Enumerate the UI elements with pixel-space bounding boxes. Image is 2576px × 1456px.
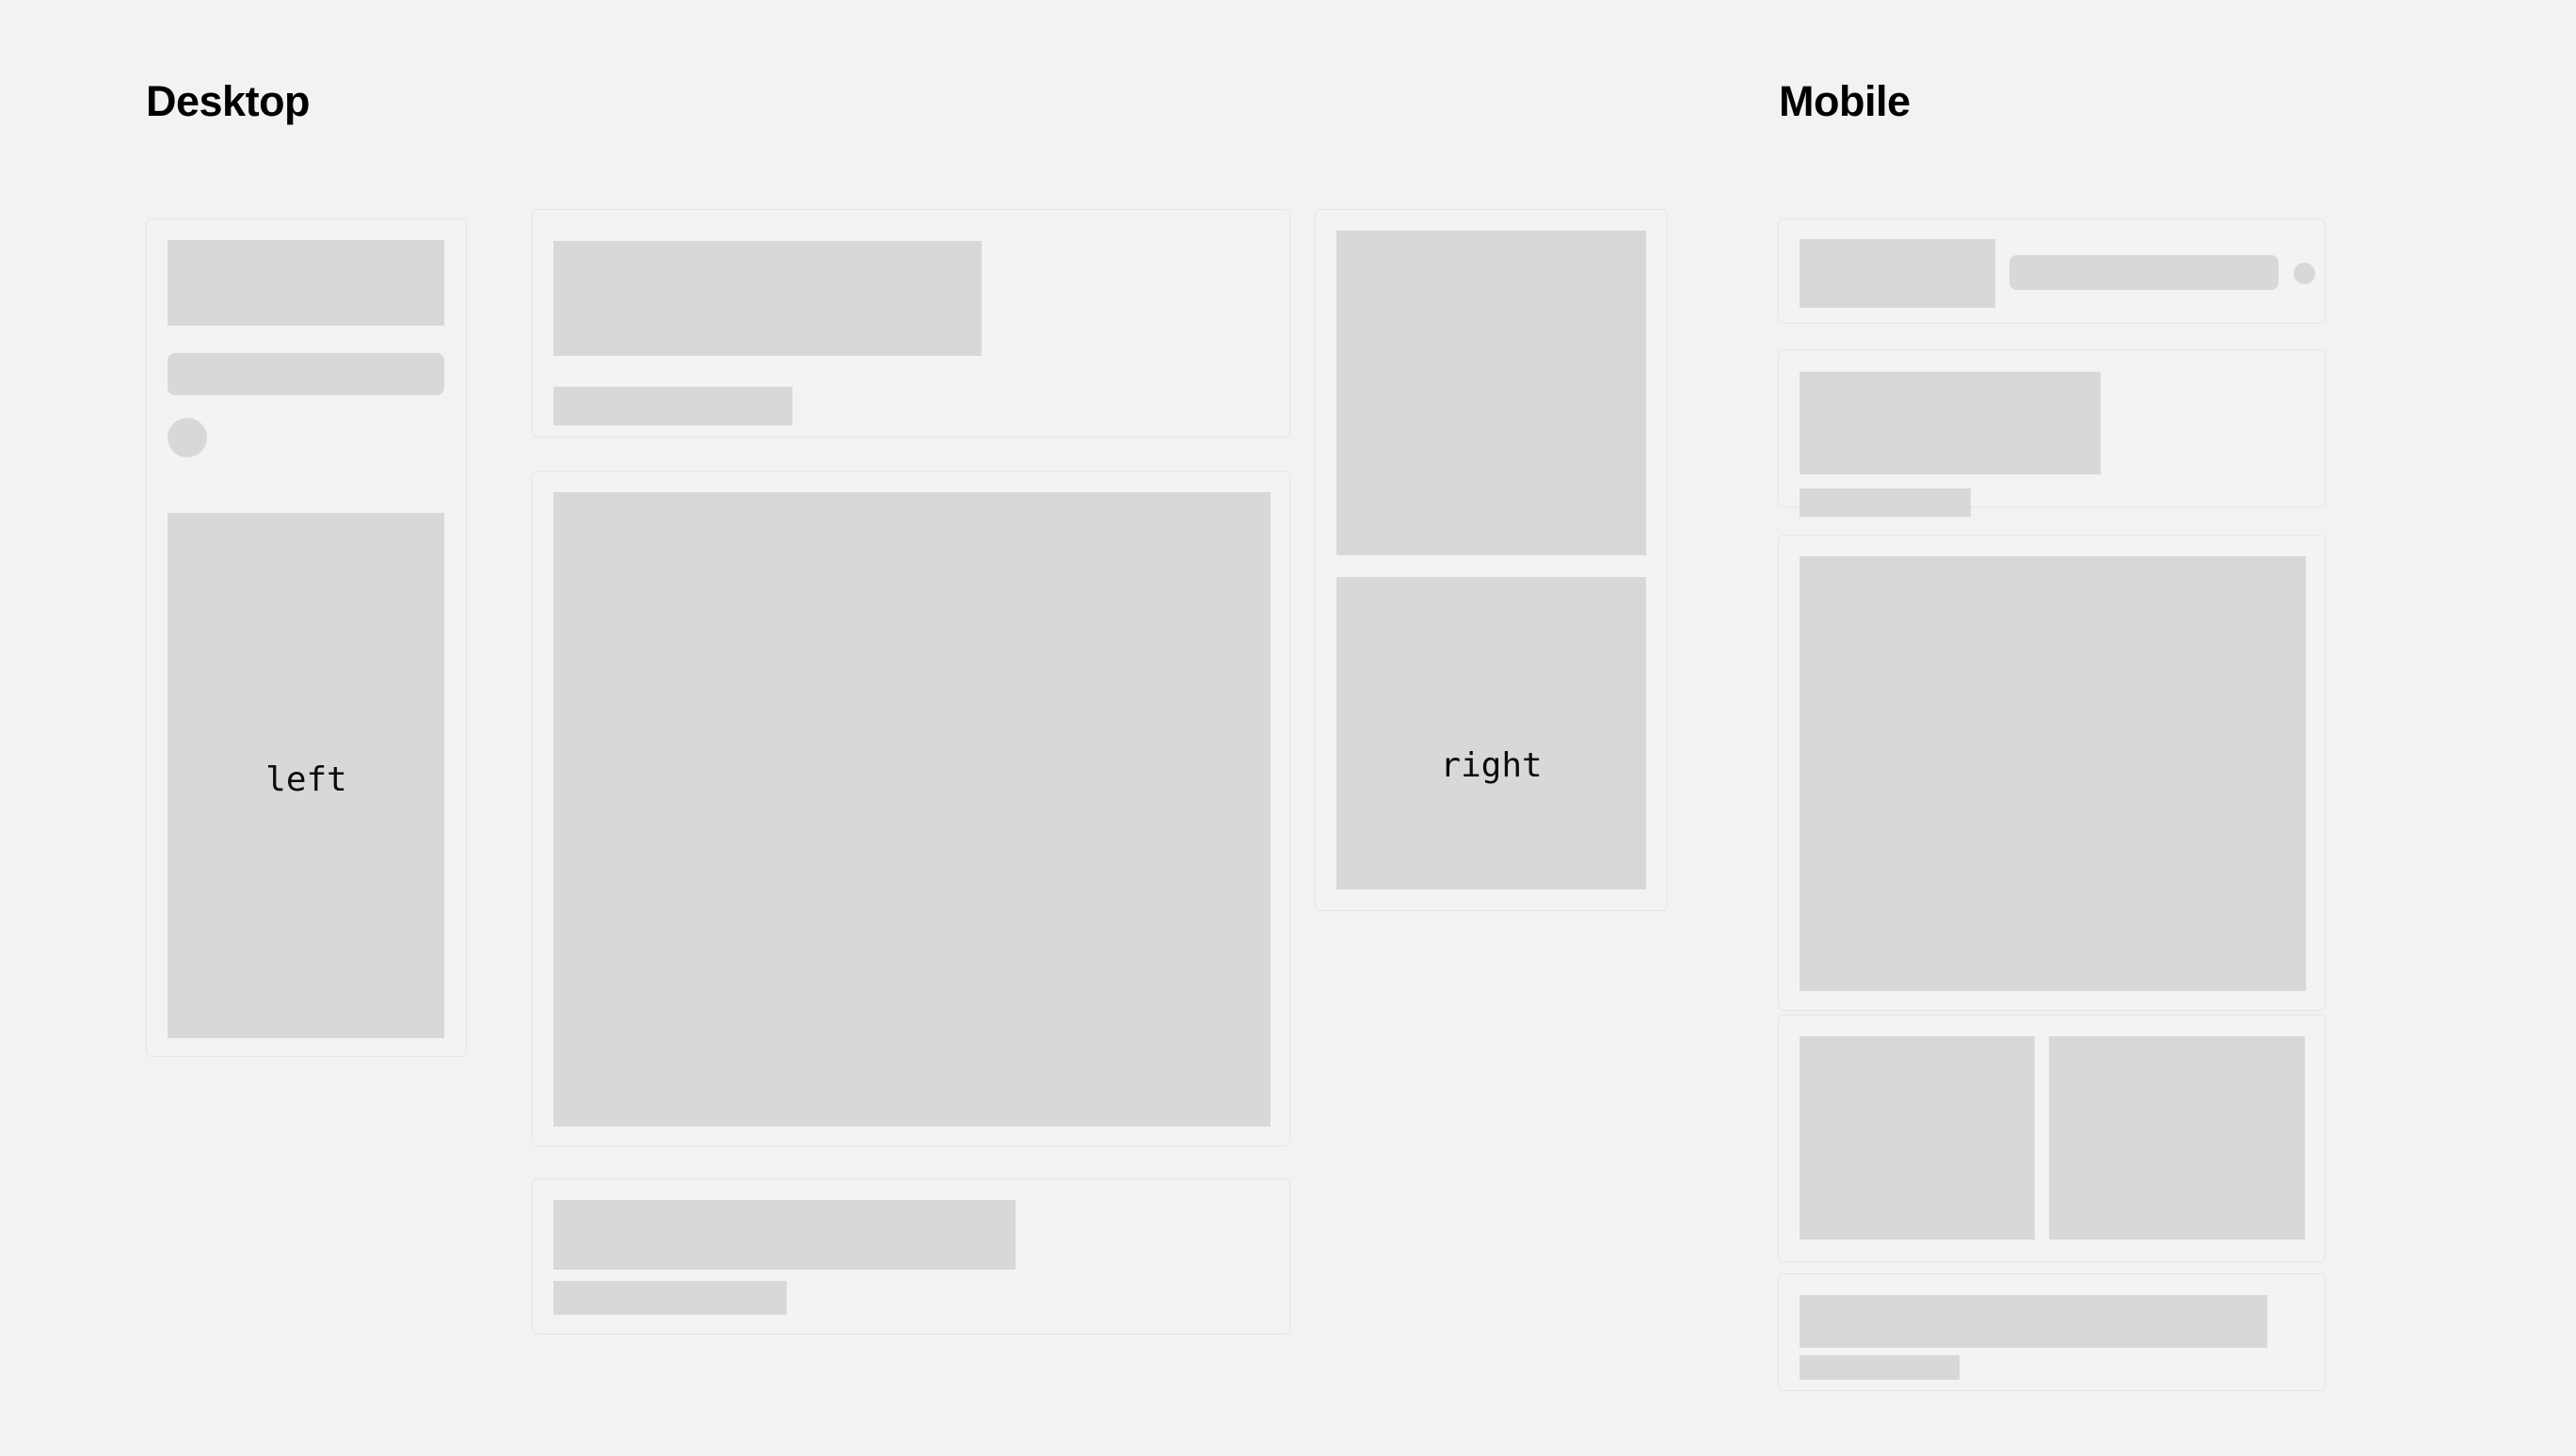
before-body-caption-bar-block: [553, 387, 792, 425]
mobile-before-body-caption-bar-block: [1800, 488, 1971, 517]
mobile-right-card[interactable]: right: [1778, 1015, 2326, 1262]
mobile-before-body-card[interactable]: beforeBody: [1778, 349, 2326, 507]
desktop-right-rail-card[interactable]: right: [1315, 209, 1668, 911]
page-body-content-block: [553, 492, 1271, 1127]
footer-bar-block: [553, 1200, 1016, 1270]
mobile-left-avatar-circle-icon[interactable]: [2294, 263, 2315, 284]
footer-caption-block: [553, 1281, 787, 1315]
desktop-column-heading: Desktop: [146, 80, 310, 122]
mobile-footer-caption-block: [1800, 1355, 1960, 1380]
mobile-left-header-block: [1800, 239, 1995, 308]
mobile-footer-bar-block: [1800, 1295, 2267, 1348]
mobile-footer-card[interactable]: footer: [1778, 1273, 2326, 1391]
mobile-page-body-content-block: [1800, 556, 2306, 991]
sidebar-search-bar-block[interactable]: [168, 353, 444, 395]
mobile-left-card[interactable]: left: [1778, 218, 2326, 324]
right-rail-block-top: [1336, 231, 1646, 555]
sidebar-nav-block: [168, 513, 444, 1038]
wireframe-canvas: Desktop left beforeBody pageBody right f…: [0, 0, 2576, 1456]
sidebar-header-block: [168, 240, 444, 326]
sidebar-avatar-circle-icon[interactable]: [168, 418, 207, 457]
right-rail-block-bottom: [1336, 577, 1646, 889]
desktop-before-body-card[interactable]: beforeBody: [532, 209, 1290, 438]
desktop-sidebar-card[interactable]: left: [146, 218, 467, 1057]
mobile-left-search-bar-block[interactable]: [2009, 255, 2279, 290]
mobile-page-body-card[interactable]: pageBody: [1778, 535, 2326, 1011]
mobile-column-heading: Mobile: [1779, 80, 1911, 122]
mobile-before-body-banner-block: [1800, 372, 2101, 474]
before-body-banner-block: [553, 241, 982, 356]
desktop-page-body-card[interactable]: pageBody: [532, 471, 1290, 1146]
mobile-right-block-right: [2049, 1036, 2305, 1240]
mobile-right-block-left: [1800, 1036, 2035, 1240]
desktop-footer-card[interactable]: footer: [532, 1178, 1290, 1335]
